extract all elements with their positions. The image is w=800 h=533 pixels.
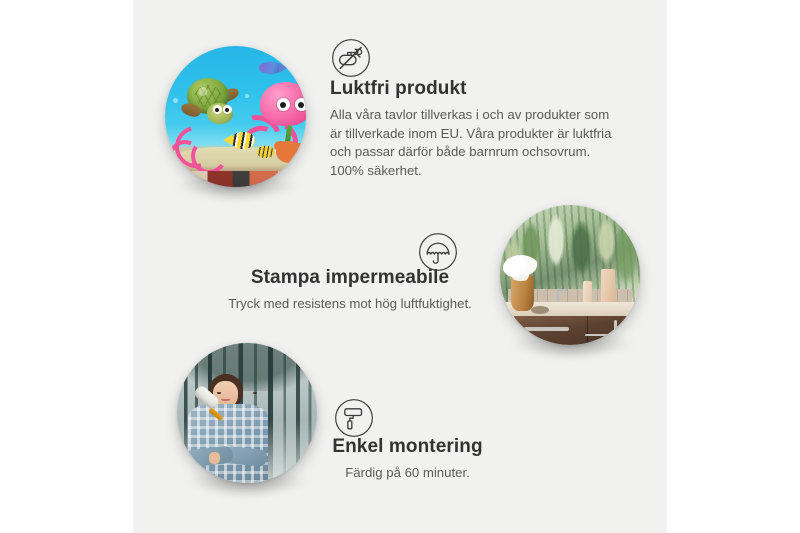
cabinet-handle: [614, 320, 617, 334]
feature-title: Stampa impermeabile: [215, 267, 485, 290]
cabinet-seam: [587, 316, 588, 345]
turtle-illustration: [181, 78, 243, 126]
feature-body: Färdig på 60 minuter.: [300, 464, 515, 483]
underwater-scene: [165, 46, 306, 187]
butterflyfish-icon: [257, 146, 274, 158]
butterflyfish-icon: [231, 132, 255, 149]
white-flowers: [503, 255, 539, 280]
wooden-vanity: [514, 316, 640, 345]
feature-image-bathroom-botanical-wallpaper: [500, 205, 640, 345]
bathroom-scene: [500, 205, 640, 345]
umbrella-icon: [418, 232, 458, 272]
woman-illustration: [183, 374, 270, 483]
scene-foreground-strip: [165, 171, 306, 187]
soap-dish: [531, 306, 549, 314]
octopus-eye: [277, 98, 290, 111]
turtle-eye: [223, 105, 232, 114]
woman-hand: [209, 452, 220, 464]
feature-title: Luktfri produkt: [330, 78, 620, 101]
feature-body: Tryck med resistens mot hög luftfuktighe…: [215, 295, 485, 314]
fish-icon: [259, 62, 281, 74]
octopus-illustration: [248, 82, 306, 152]
feature-text-block-3: Enkel montering Färdig på 60 minuter.: [300, 436, 515, 483]
feature-body: Alla våra tavlor tillverkas i och av pro…: [330, 106, 620, 181]
feature-image-underwater-cartoon-scene: [165, 46, 306, 187]
starfish-icon: [276, 141, 302, 163]
no-fragrance-icon: [331, 38, 371, 78]
octopus-eye: [295, 98, 306, 111]
forest-wallpaper-scene: [177, 343, 317, 483]
feature-image-woman-with-paint-roller-forest: [177, 343, 317, 483]
bubble-icon: [173, 98, 178, 103]
paint-roller-icon: [334, 398, 374, 438]
feature-text-block-1: Luktfri produkt Alla våra tavlor tillver…: [330, 78, 620, 181]
roller-handle: [209, 408, 224, 422]
turtle-eye: [213, 105, 222, 114]
product-feature-infographic: Luktfri produkt Alla våra tavlor tillver…: [0, 0, 800, 533]
feature-title: Enkel montering: [300, 436, 515, 459]
feature-text-block-2: Stampa impermeabile Tryck med resistens …: [215, 267, 485, 314]
